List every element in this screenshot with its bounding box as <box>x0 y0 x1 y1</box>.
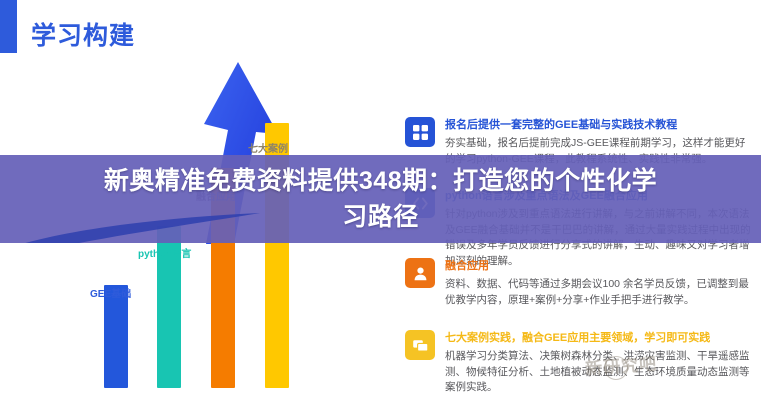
bar-label: python语言 <box>138 245 191 260</box>
feature-item: 七大案例实践，融合GEE应用主要领域，学习即可实践 机器学习分类算法、决策树森林… <box>405 330 755 396</box>
feature-item: 融合应用 资料、数据、代码等通过多期会议100 余名学员反馈，已调整到最优教学内… <box>405 258 755 308</box>
feature-text: 资料、数据、代码等通过多期会议100 余名学员反馈，已调整到最优教学内容，原理+… <box>445 277 755 308</box>
bar-item <box>104 285 128 388</box>
poster-screenshot: 学习构建 七大案例 融合应用 python语言 GEE基础 <box>0 0 761 400</box>
header-accent-bar <box>0 0 17 53</box>
user-icon <box>405 258 435 288</box>
overlay-line-1: 新奥精准免费资料提供348期：打造您的个性化学 <box>104 163 657 199</box>
overlay-banner-text: 新奥精准免费资料提供348期：打造您的个性化学 习路径 <box>0 155 761 243</box>
feature-title: 报名后提供一套完整的GEE基础与实践技术教程 <box>445 118 755 133</box>
watermark-text: 新研究吧 <box>584 350 658 380</box>
page-title: 学习构建 <box>31 16 135 52</box>
chat-windows-icon <box>405 330 435 360</box>
feature-title: 融合应用 <box>445 259 755 274</box>
grid-icon <box>405 117 435 147</box>
feature-body: 融合应用 资料、数据、代码等通过多期会议100 余名学员反馈，已调整到最优教学内… <box>445 258 755 308</box>
bar-label: 七大案例 <box>248 140 288 155</box>
overlay-line-2: 习路径 <box>342 199 419 235</box>
feature-title: 七大案例实践，融合GEE应用主要领域，学习即可实践 <box>445 331 755 346</box>
bar-label: GEE基础 <box>90 285 131 300</box>
